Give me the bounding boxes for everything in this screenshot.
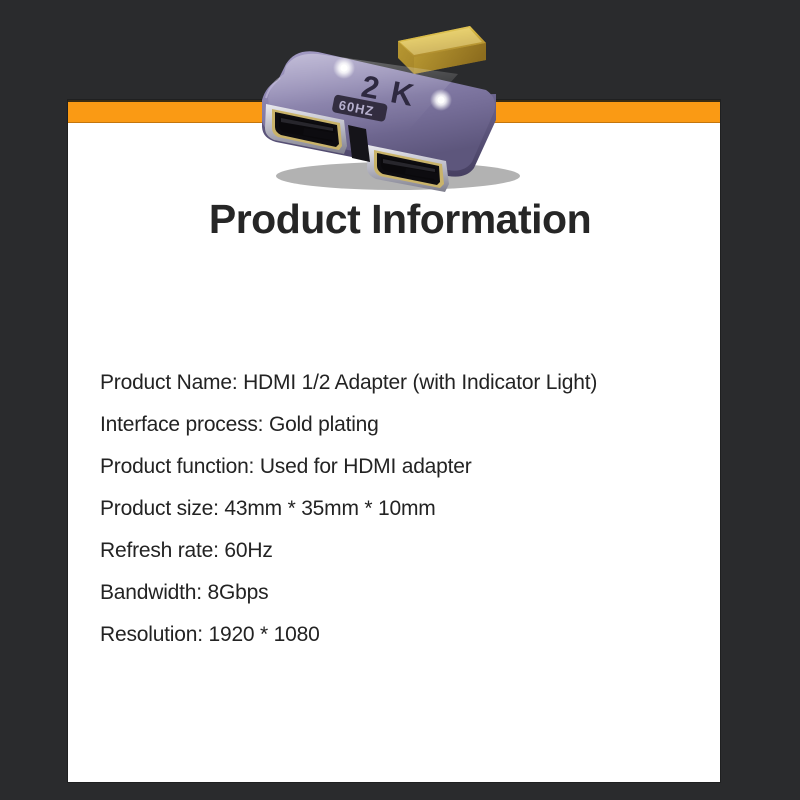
specification-list: Product Name: HDMI 1/2 Adapter (with Ind… <box>100 362 700 656</box>
spec-product-function: Product function: Used for HDMI adapter <box>100 446 700 488</box>
spec-product-name: Product Name: HDMI 1/2 Adapter (with Ind… <box>100 362 700 404</box>
product-image: 2 K 60HZ <box>248 8 538 193</box>
page-title: Product Information <box>0 196 800 243</box>
usb-c-connector-icon <box>398 26 486 74</box>
led-indicator-light-2 <box>430 89 452 111</box>
led-indicator-light <box>333 57 355 79</box>
product-information-page: 2 K 60HZ <box>0 0 800 800</box>
spec-resolution: Resolution: 1920 * 1080 <box>100 614 700 656</box>
spec-bandwidth: Bandwidth: 8Gbps <box>100 572 700 614</box>
spec-interface-process: Interface process: Gold plating <box>100 404 700 446</box>
spec-refresh-rate: Refresh rate: 60Hz <box>100 530 700 572</box>
spec-product-size: Product size: 43mm * 35mm * 10mm <box>100 488 700 530</box>
